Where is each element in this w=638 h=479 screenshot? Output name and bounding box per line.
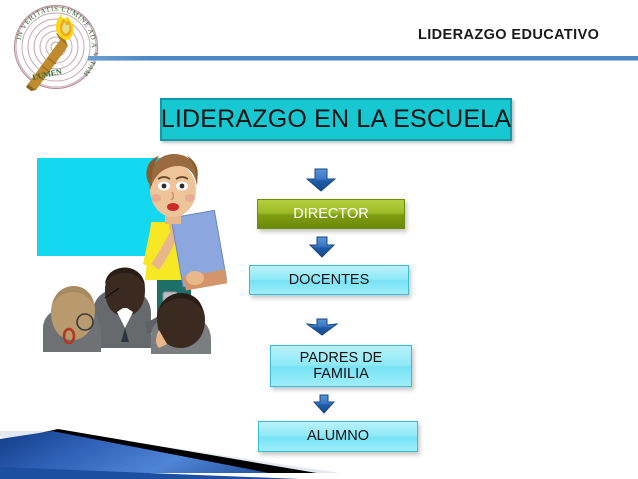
- down-arrow-icon: [313, 394, 335, 414]
- down-arrow-icon: [306, 318, 338, 336]
- flow-node-padres-label: PADRES DE FAMILIA: [300, 350, 383, 382]
- flow-node-docentes[interactable]: DOCENTES: [249, 265, 409, 295]
- header-divider-rule: [88, 56, 638, 60]
- flow-node-padres-de-familia[interactable]: PADRES DE FAMILIA: [270, 345, 412, 387]
- flow-node-alumno-label: ALUMNO: [307, 428, 369, 444]
- slide-title-text: LIDERAZGO EN LA ESCUELA: [161, 105, 512, 134]
- flow-node-director[interactable]: DIRECTOR: [257, 199, 405, 229]
- slide-title-box: LIDERAZGO EN LA ESCUELA: [160, 98, 512, 141]
- flow-node-director-label: DIRECTOR: [293, 206, 368, 222]
- flow-node-alumno[interactable]: ALUMNO: [258, 421, 418, 452]
- flow-node-docentes-label: DOCENTES: [289, 272, 370, 288]
- down-arrow-icon: [309, 236, 335, 258]
- meeting-presentation-clipart: [33, 152, 238, 357]
- down-arrow-icon: [306, 168, 336, 192]
- slide-canvas: IN VERITATIS LUMINE AD AMORIS VITAM LUME…: [0, 0, 638, 479]
- header-title: LIDERAZGO EDUCATIVO: [418, 27, 599, 43]
- university-seal-torch-logo: IN VERITATIS LUMINE AD AMORIS VITAM LUME…: [6, 2, 106, 97]
